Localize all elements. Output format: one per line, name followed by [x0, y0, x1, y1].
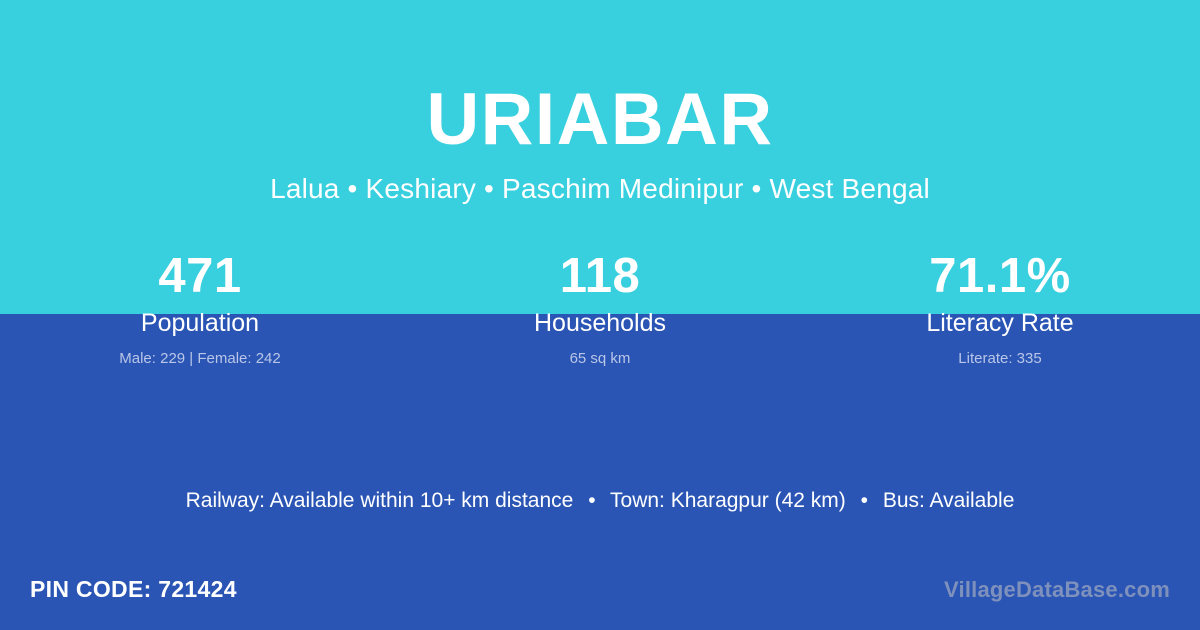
stat-households: 118 Households 65 sq km	[400, 247, 800, 370]
infra-separator-1: •	[579, 489, 604, 512]
pin-code: PIN CODE: 721424	[30, 574, 237, 604]
infrastructure-line: Railway: Available within 10+ km distanc…	[0, 487, 1200, 515]
stat-population: 471 Population Male: 229 | Female: 242	[0, 247, 400, 370]
brand-watermark: VillageDataBase.com	[944, 575, 1170, 605]
stat-population-label: Population	[0, 305, 400, 339]
breadcrumb: Lalua • Keshiary • Paschim Medinipur • W…	[0, 156, 1200, 203]
infra-town: Town: Kharagpur (42 km)	[610, 489, 846, 512]
stat-literacy-rate-label: Literacy Rate	[800, 305, 1200, 339]
stat-population-value: 471	[0, 247, 400, 305]
stat-literacy-rate-sub: Literate: 335	[800, 339, 1200, 370]
hero-section: URIABAR Lalua • Keshiary • Paschim Medin…	[0, 0, 1200, 203]
stat-households-label: Households	[400, 305, 800, 339]
stats-row: 471 Population Male: 229 | Female: 242 1…	[0, 247, 1200, 370]
stat-households-sub: 65 sq km	[400, 339, 800, 370]
footer: PIN CODE: 721424 VillageDataBase.com	[0, 558, 1200, 630]
stat-households-value: 118	[400, 247, 800, 305]
stat-population-sub: Male: 229 | Female: 242	[0, 339, 400, 370]
infra-bus: Bus: Available	[883, 489, 1015, 512]
page-title: URIABAR	[0, 0, 1200, 156]
infra-separator-2: •	[852, 489, 877, 512]
stat-literacy-rate: 71.1% Literacy Rate Literate: 335	[800, 247, 1200, 370]
stat-literacy-rate-value: 71.1%	[800, 247, 1200, 305]
infra-railway: Railway: Available within 10+ km distanc…	[186, 489, 574, 512]
village-info-card: URIABAR Lalua • Keshiary • Paschim Medin…	[0, 0, 1200, 630]
